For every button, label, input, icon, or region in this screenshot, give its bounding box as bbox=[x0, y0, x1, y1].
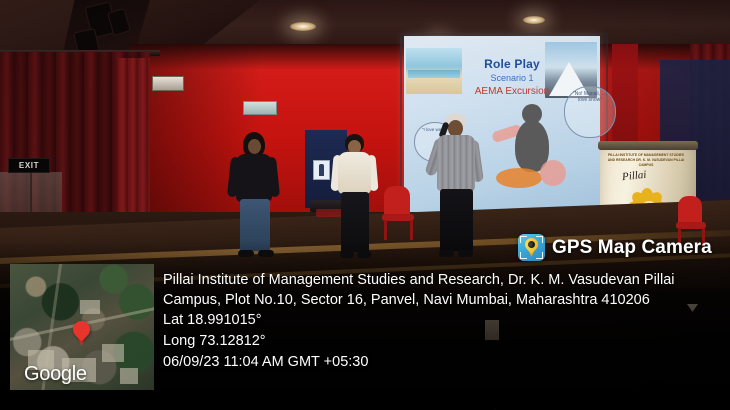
viewfinder-corner-icon bbox=[520, 252, 527, 259]
slide-subtitle: Scenario 1 bbox=[466, 73, 558, 83]
exit-sign: EXIT bbox=[8, 158, 50, 173]
slide-cartoon-shape-orange bbox=[496, 168, 542, 188]
slide-speech-bubble-right: "No! Manali, ...I love snow" bbox=[564, 86, 616, 138]
person-legs bbox=[240, 199, 270, 251]
map-building bbox=[102, 344, 124, 362]
person-shoe bbox=[340, 251, 354, 258]
lectern-top bbox=[598, 141, 698, 150]
exit-sign-label: EXIT bbox=[19, 161, 39, 170]
person-shoe bbox=[458, 250, 473, 257]
lectern-logo-script: Pillai bbox=[621, 169, 647, 183]
geotag-info-block: Pillai Institute of Management Studies a… bbox=[163, 270, 719, 373]
person-torso bbox=[236, 154, 272, 202]
slide-topic: AEMA Excursion bbox=[458, 86, 566, 97]
slide-cartoon-shape-pink bbox=[540, 160, 566, 186]
door-pictogram-sign bbox=[313, 160, 330, 180]
chair-leg bbox=[384, 220, 387, 240]
slide-beach-photo bbox=[406, 48, 462, 94]
person-legs bbox=[440, 189, 473, 251]
person-torso bbox=[338, 152, 371, 194]
address-line-1: Pillai Institute of Management Studies a… bbox=[163, 270, 719, 290]
person-shoe bbox=[357, 251, 371, 258]
lectern-institution-text: PILLAI INSTITUTE OF MANAGEMENT STUDIES A… bbox=[606, 153, 686, 168]
person-shoe bbox=[439, 250, 454, 257]
map-thumbnail[interactable]: Google bbox=[10, 264, 154, 390]
ceiling-light bbox=[523, 16, 545, 24]
wall-sign-panel bbox=[243, 101, 277, 115]
gps-map-camera-photo: Role Play Scenario 1 AEMA Excursion "No!… bbox=[0, 0, 730, 410]
person-shoe bbox=[238, 250, 254, 257]
gps-map-camera-branding: GPS Map Camera bbox=[518, 234, 712, 261]
address-line-2: Campus, Plot No.10, Sector 16, Panvel, N… bbox=[163, 290, 719, 310]
datetime-text: 06/09/23 11:04 AM GMT +05:30 bbox=[163, 352, 719, 373]
person-face bbox=[248, 139, 261, 154]
person-legs bbox=[341, 192, 369, 252]
chair-back bbox=[678, 196, 702, 224]
latitude-text: Lat 18.991015° bbox=[163, 310, 719, 331]
ceiling-light bbox=[290, 22, 316, 31]
app-brand-label: GPS Map Camera bbox=[552, 237, 712, 259]
gps-map-camera-app-icon bbox=[518, 234, 545, 261]
map-building bbox=[120, 368, 138, 384]
longitude-text: Long 73.12812° bbox=[163, 331, 719, 352]
chair-leg bbox=[410, 220, 413, 240]
slide-title: Role Play bbox=[466, 57, 558, 71]
google-watermark: Google bbox=[24, 363, 87, 386]
person-shoe bbox=[258, 250, 274, 257]
viewfinder-corner-icon bbox=[536, 252, 543, 259]
map-building bbox=[80, 300, 100, 314]
person-torso bbox=[437, 135, 475, 191]
chair-back bbox=[384, 186, 410, 216]
wall-vent bbox=[152, 76, 184, 91]
